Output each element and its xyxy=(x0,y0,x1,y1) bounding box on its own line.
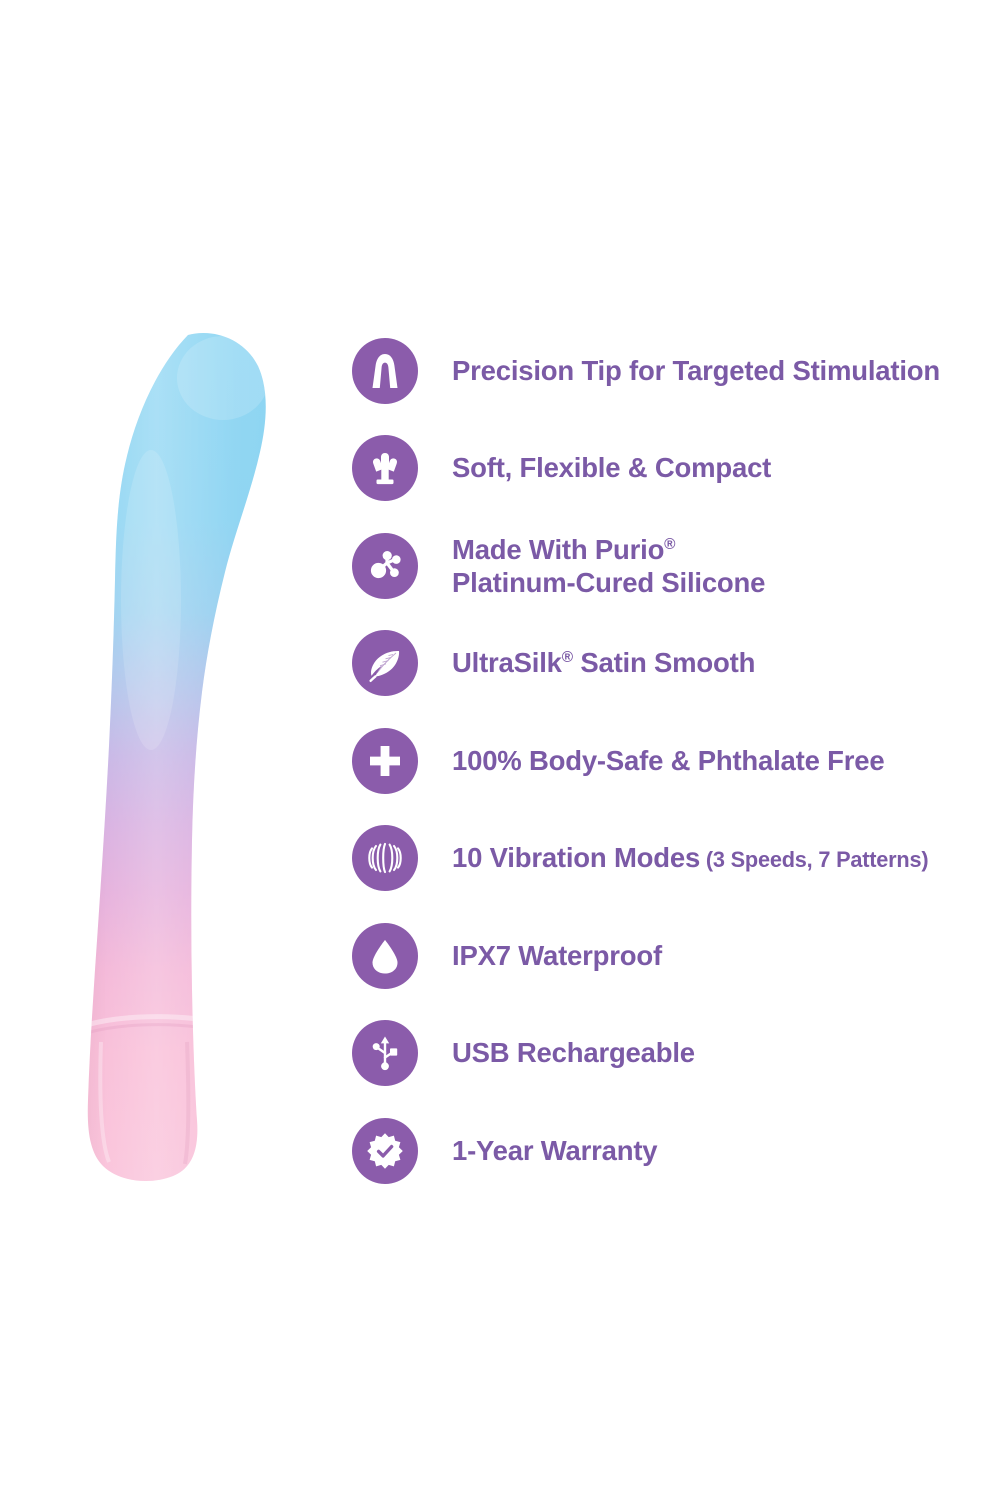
usb-icon xyxy=(352,1020,418,1086)
feature-row-vibration-modes: 10 Vibration Modes (3 Speeds, 7 Patterns… xyxy=(352,810,972,908)
medical-cross-icon xyxy=(352,728,418,794)
registered-mark: ® xyxy=(664,536,675,553)
feature-list: Precision Tip for Targeted Stimulation S… xyxy=(352,322,972,1200)
flexible-hand-icon xyxy=(352,435,418,501)
feature-row-usb: USB Rechargeable xyxy=(352,1005,972,1103)
registered-mark: ® xyxy=(562,649,573,666)
feature-label: UltraSilk® Satin Smooth xyxy=(452,647,755,679)
feature-row-precision-tip: Precision Tip for Targeted Stimulation xyxy=(352,322,972,420)
feature-label: USB Rechargeable xyxy=(452,1037,695,1069)
precision-tip-icon xyxy=(352,338,418,404)
feature-label: Made With Purio® Platinum-Cured Silicone xyxy=(452,533,765,599)
product-feature-infographic: Precision Tip for Targeted Stimulation S… xyxy=(0,0,1000,1500)
vibration-waves-icon xyxy=(352,825,418,891)
feature-row-ultrasilk: UltraSilk® Satin Smooth xyxy=(352,615,972,713)
feature-label-line2: Platinum-Cured Silicone xyxy=(452,566,765,599)
water-drop-icon xyxy=(352,923,418,989)
warranty-badge-icon xyxy=(352,1118,418,1184)
product-image xyxy=(55,300,345,1200)
feature-row-purio-silicone: Made With Purio® Platinum-Cured Silicone xyxy=(352,517,972,615)
feature-sublabel: (3 Speeds, 7 Patterns) xyxy=(700,847,928,872)
feature-row-body-safe: 100% Body-Safe & Phthalate Free xyxy=(352,712,972,810)
molecule-icon xyxy=(352,533,418,599)
feature-row-soft-flexible: Soft, Flexible & Compact xyxy=(352,420,972,518)
feature-label: IPX7 Waterproof xyxy=(452,940,662,972)
feature-label: 1-Year Warranty xyxy=(452,1135,657,1167)
feature-label: Precision Tip for Targeted Stimulation xyxy=(452,355,940,387)
feather-icon xyxy=(352,630,418,696)
feature-label: Soft, Flexible & Compact xyxy=(452,452,771,484)
feature-row-waterproof: IPX7 Waterproof xyxy=(352,907,972,1005)
feature-label: 10 Vibration Modes (3 Speeds, 7 Patterns… xyxy=(452,842,928,874)
feature-label-suffix: Satin Smooth xyxy=(573,647,755,678)
feature-label: 100% Body-Safe & Phthalate Free xyxy=(452,745,884,777)
feature-row-warranty: 1-Year Warranty xyxy=(352,1102,972,1200)
